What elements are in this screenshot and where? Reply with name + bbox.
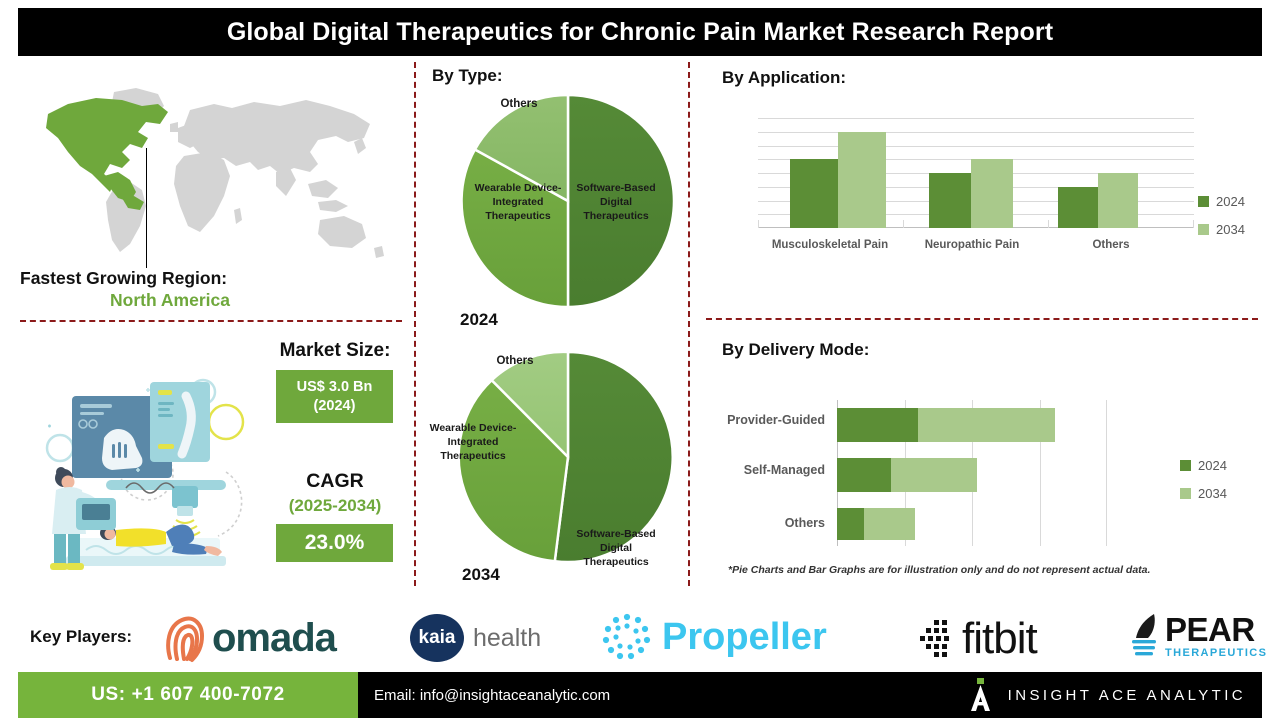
divider-vertical-right: [688, 62, 690, 586]
by-application-title: By Application:: [722, 68, 846, 88]
hbar-others-2024: [837, 508, 864, 540]
bar-neuropathic-2024: [929, 173, 971, 228]
footer-brand-text: INSIGHT ACE ANALYTIC: [1008, 687, 1246, 704]
pie-2034-label-wearable: Wearable Device-Integrated Therapeutics: [424, 422, 522, 464]
pie-2024-label-software: Software-Based Digital Therapeutics: [572, 182, 660, 224]
pear-leaf-icon: [1128, 612, 1162, 660]
logo-fitbit-text: fitbit: [962, 614, 1037, 664]
fastest-growing-region-label: Fastest Growing Region:: [20, 268, 320, 289]
key-players-label: Key Players:: [30, 627, 132, 647]
logo-pear-subtext: THERAPEUTICS: [1165, 648, 1267, 659]
market-size-title: Market Size:: [250, 340, 420, 362]
hbar-self-managed-2024: [837, 458, 891, 492]
by-delivery-mode-chart: [837, 400, 1107, 546]
hbar-provider-guided-2034: [918, 408, 1055, 442]
by-application-legend: 2024 2034: [1198, 194, 1245, 250]
infographic-page: Global Digital Therapeutics for Chronic …: [0, 0, 1280, 720]
divider-horizontal-left: [20, 320, 402, 322]
pie-2034-year: 2034: [462, 565, 500, 585]
legend-swatch-2024: [1198, 196, 1209, 207]
legend-swatch-2034: [1198, 224, 1209, 235]
logo-propeller-text: Propeller: [662, 616, 827, 659]
pie-2024-label-others: Others: [476, 98, 562, 110]
by-application-chart: [758, 118, 1194, 228]
logo-omada: omada: [160, 612, 336, 664]
page-title: Global Digital Therapeutics for Chronic …: [227, 18, 1053, 47]
kaia-badge: kaia: [410, 614, 464, 662]
legend-item-2024: 2024: [1198, 194, 1245, 209]
legend-label-2024: 2024: [1198, 458, 1227, 473]
bar-others-2024: [1058, 187, 1098, 228]
market-size-year: (2024): [314, 398, 356, 414]
fastest-growing-region-value: North America: [20, 290, 320, 311]
legend-swatch-2024: [1180, 460, 1191, 471]
world-map: [18, 80, 408, 270]
pie-2024-year: 2024: [460, 310, 498, 330]
hbar-provider-guided: [837, 408, 1107, 442]
hbar-others: [837, 508, 1107, 540]
cagr-value: 23.0%: [305, 530, 365, 556]
hbar-others-2034: [864, 508, 915, 540]
logo-kaia-health-text: health: [473, 624, 541, 653]
bar-category-others: Others: [1048, 238, 1174, 252]
footer-phone-text: US: +1 607 400-7072: [91, 684, 285, 706]
propeller-dots-icon: [600, 612, 654, 662]
pie-2024-label-wearable: Wearable Device-Integrated Therapeutics: [472, 182, 564, 224]
divider-horizontal-right: [706, 318, 1258, 320]
by-delivery-mode-title: By Delivery Mode:: [722, 340, 869, 360]
hbar-self-managed: [837, 458, 1107, 492]
bar-others-2034: [1098, 173, 1138, 228]
legend-item-2034: 2034: [1198, 222, 1245, 237]
cagr-value-box: 23.0%: [276, 524, 393, 562]
hbar-category-others: Others: [690, 516, 825, 530]
bar-musculoskeletal-2034: [838, 132, 886, 228]
insight-ace-logo-icon: [968, 678, 994, 712]
header-banner: Global Digital Therapeutics for Chronic …: [18, 8, 1262, 56]
legend-item-2034: 2034: [1180, 486, 1227, 501]
omada-fingerprint-icon: [160, 612, 208, 664]
fitbit-dots-icon: [920, 616, 956, 662]
legend-label-2034: 2034: [1198, 486, 1227, 501]
footer-info-bar: Email: info@insightaceanalytic.com INSIG…: [358, 672, 1262, 718]
footer-phone-bar: US: +1 607 400-7072: [18, 672, 358, 718]
legend-label-2024: 2024: [1216, 194, 1245, 209]
logo-pear-therapeutics: PEAR THERAPEUTICS: [1128, 612, 1267, 660]
legend-swatch-2034: [1180, 488, 1191, 499]
chart-footnote: *Pie Charts and Bar Graphs are for illus…: [728, 564, 1268, 576]
by-type-title: By Type:: [432, 66, 503, 86]
medical-imaging-illustration: [30, 360, 280, 585]
hbar-category-provider-guided: Provider-Guided: [690, 413, 825, 427]
logo-propeller: Propeller: [600, 612, 827, 662]
legend-item-2024: 2024: [1180, 458, 1227, 473]
by-delivery-mode-legend: 2024 2034: [1180, 458, 1227, 514]
bar-musculoskeletal-2024: [790, 159, 838, 228]
map-pointer-line: [146, 148, 147, 268]
cagr-period: (2025-2034): [250, 496, 420, 516]
bar-neuropathic-2034: [971, 159, 1013, 228]
market-size-value: US$ 3.0 Bn: [297, 379, 373, 395]
pie-2034-label-others: Others: [470, 355, 560, 367]
market-size-value-box: US$ 3.0 Bn (2024): [276, 370, 393, 423]
pie-2034-label-software: Software-Based Digital Therapeutics: [570, 528, 662, 570]
logo-fitbit: fitbit: [920, 614, 1037, 664]
hbar-category-self-managed: Self-Managed: [690, 463, 825, 477]
footer-email-text: Email: info@insightaceanalytic.com: [374, 687, 610, 704]
hbar-provider-guided-2024: [837, 408, 918, 442]
logo-pear-text: PEAR: [1165, 613, 1267, 646]
cagr-title: CAGR: [250, 470, 420, 493]
bar-category-neuropathic: Neuropathic Pain: [900, 238, 1044, 252]
footer-brand: INSIGHT ACE ANALYTIC: [968, 672, 1246, 718]
logo-kaia-health: kaia health: [410, 614, 541, 662]
hbar-self-managed-2034: [891, 458, 977, 492]
legend-label-2034: 2034: [1216, 222, 1245, 237]
logo-kaia-text: kaia: [419, 627, 456, 649]
logo-omada-text: omada: [212, 616, 336, 661]
bar-category-musculoskeletal: Musculoskeletal Pain: [760, 238, 900, 252]
